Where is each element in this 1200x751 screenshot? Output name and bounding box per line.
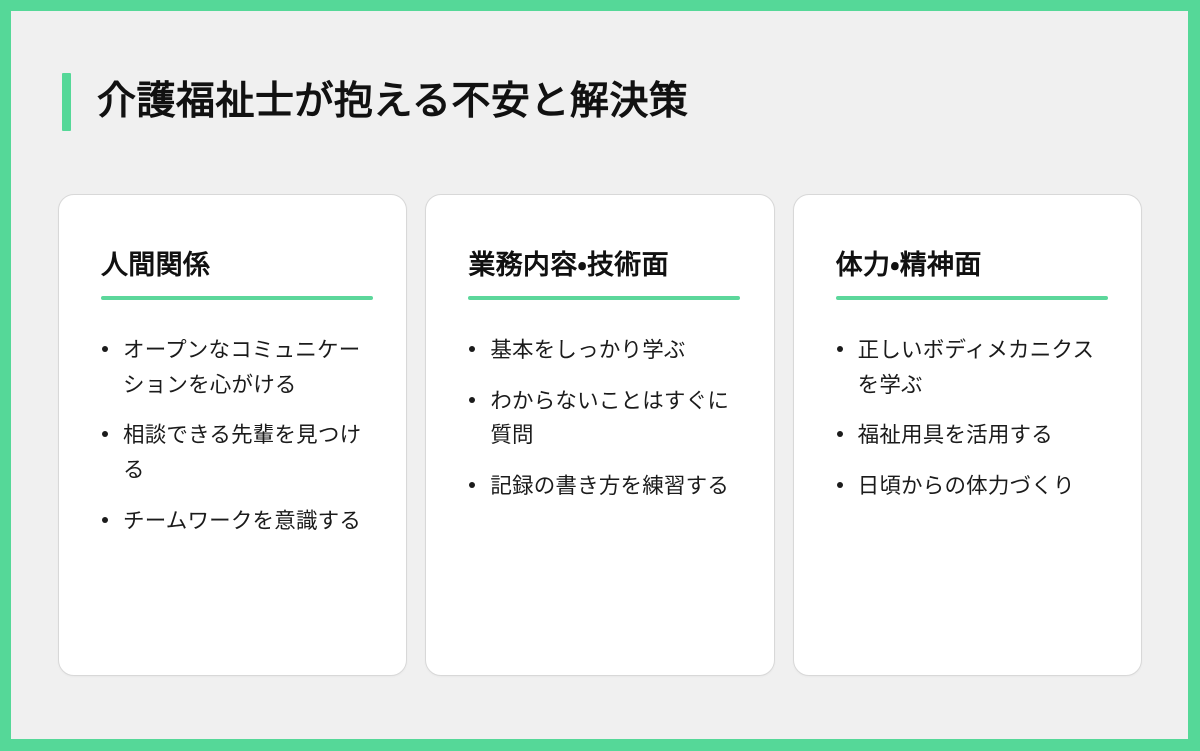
card-physical-and-mental: 体力・精神面 正しいボディメカニクスを学ぶ 福祉用具を活用する 日頃からの体力づ… bbox=[793, 194, 1142, 676]
page-title: 介護福祉士が抱える不安と解決策 bbox=[71, 80, 688, 124]
list-item: 正しいボディメカニクスを学ぶ bbox=[836, 333, 1111, 403]
card-title: 人間関係 bbox=[101, 249, 376, 283]
title-accent-bar-icon bbox=[62, 73, 71, 131]
list-item: チームワークを意識する bbox=[101, 504, 376, 539]
card-grid: 人間関係 オープンなコミュニケーションを心がける 相談できる先輩を見つける チー… bbox=[58, 194, 1142, 676]
list-item: 基本をしっかり学ぶ bbox=[468, 333, 743, 368]
list-item: わからないことはすぐに質問 bbox=[468, 384, 743, 454]
card-title: 体力・精神面 bbox=[836, 249, 1111, 283]
list-item: 福祉用具を活用する bbox=[836, 418, 1111, 453]
list-item: 相談できる先輩を見つける bbox=[101, 418, 376, 488]
card-bullet-list: 正しいボディメカニクスを学ぶ 福祉用具を活用する 日頃からの体力づくり bbox=[836, 333, 1111, 504]
card-title: 業務内容・技術面 bbox=[468, 249, 743, 283]
card-human-relations: 人間関係 オープンなコミュニケーションを心がける 相談できる先輩を見つける チー… bbox=[58, 194, 407, 676]
card-title-underline bbox=[468, 296, 740, 300]
list-item: 日頃からの体力づくり bbox=[836, 469, 1111, 504]
slide-frame: 介護福祉士が抱える不安と解決策 人間関係 オープンなコミュニケーションを心がける… bbox=[0, 0, 1200, 751]
card-bullet-list: オープンなコミュニケーションを心がける 相談できる先輩を見つける チームワークを… bbox=[101, 333, 376, 539]
title-block: 介護福祉士が抱える不安と解決策 bbox=[62, 72, 688, 132]
card-title-underline bbox=[836, 296, 1108, 300]
list-item: オープンなコミュニケーションを心がける bbox=[101, 333, 376, 403]
slide-canvas: 介護福祉士が抱える不安と解決策 人間関係 オープンなコミュニケーションを心がける… bbox=[11, 11, 1188, 739]
card-bullet-list: 基本をしっかり学ぶ わからないことはすぐに質問 記録の書き方を練習する bbox=[468, 333, 743, 504]
list-item: 記録の書き方を練習する bbox=[468, 469, 743, 504]
card-title-underline bbox=[101, 296, 373, 300]
card-work-and-skills: 業務内容・技術面 基本をしっかり学ぶ わからないことはすぐに質問 記録の書き方を… bbox=[425, 194, 774, 676]
